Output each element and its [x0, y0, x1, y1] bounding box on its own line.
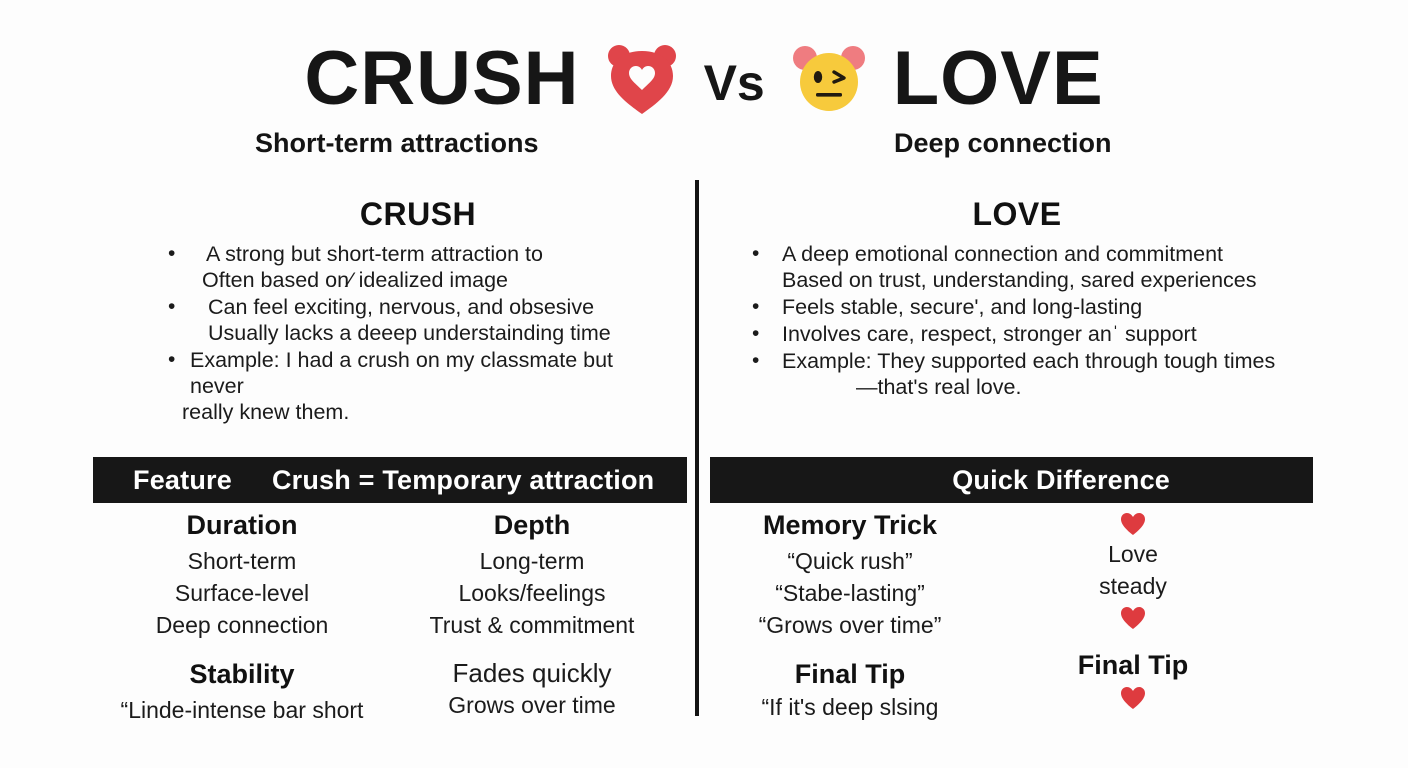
bullet-main: Can feel exciting, nervous, and obsesive — [208, 294, 668, 320]
header-title-row: CRUSH Vs L — [0, 36, 1408, 122]
column-stability-head: Stability — [106, 657, 378, 691]
column-love-steady: Love steady Final Tip — [1014, 508, 1252, 712]
banner-feature-label: Feature — [133, 465, 232, 496]
bullet-dot-icon: • — [168, 294, 175, 320]
panel-crush: CRUSH • A strong but short-term attracti… — [168, 196, 668, 426]
column-memory-trick-line-2: “Stabe-lasting” — [742, 577, 958, 609]
comparison-grid: Duration Short-term Surface-level Deep c… — [0, 508, 1408, 758]
header-right-subtitle: Deep connection — [894, 128, 1112, 159]
column-duration-head: Duration — [106, 508, 378, 542]
banner-quick-difference-title: Quick Difference — [952, 465, 1170, 496]
bullet-main: Involves care, respect, stronger anˈ sup… — [782, 321, 1282, 347]
list-item: • Involves care, respect, stronger anˈ s… — [752, 321, 1282, 347]
heart-icon-bottom — [1014, 682, 1252, 712]
bullet-sub: —that's real love. — [856, 374, 1282, 400]
heart-icon-top — [1014, 508, 1252, 538]
list-item: • Feels stable, secureʹ, and long-lastin… — [752, 294, 1282, 320]
list-item: • A deep emotional connection and commit… — [752, 241, 1282, 293]
bullet-dot-icon: • — [168, 241, 175, 267]
column-memory-trick-head: Memory Trick — [742, 508, 958, 542]
spacer — [388, 641, 676, 657]
banner-feature-statement: Crush = Temporary attraction — [272, 465, 654, 496]
bullet-main: Example: They supported each through tou… — [782, 348, 1282, 374]
column-fades-line-1: Grows over time — [388, 689, 676, 721]
column-final-tip-line-1: “If it's deep slsing — [742, 691, 958, 723]
header: CRUSH Vs L — [0, 36, 1408, 166]
column-memory-trick: Memory Trick “Quick rush” “Stabe-lasting… — [742, 508, 958, 723]
column-depth: Depth Long-term Looks/feelings Trust & c… — [388, 508, 676, 721]
bullet-sub: Often based on⁄ idealized image — [202, 267, 668, 293]
column-depth-line-1: Long-term — [388, 545, 676, 577]
banner-quick-difference: Quick Difference — [710, 457, 1313, 503]
bullet-dot-icon: • — [752, 348, 759, 374]
heart-shield-icon — [606, 42, 678, 116]
bullet-main: Feels stable, secureʹ, and long-lasting — [782, 294, 1282, 320]
header-subtitle-row: Short-term attractions Deep connection — [0, 122, 1408, 166]
column-final-tip-right-head: Final Tip — [1014, 648, 1252, 682]
column-duration-line-3: Deep connection — [106, 609, 378, 641]
bullet-main: Example: I had a crush on my classmate b… — [190, 347, 668, 399]
spacer — [742, 641, 958, 657]
column-memory-trick-line-3: “Grows over time” — [742, 609, 958, 641]
column-depth-head: Depth — [388, 508, 676, 542]
list-item: • A strong but short-term attraction to … — [168, 241, 668, 293]
bullet-main: A strong but short-term attraction to — [206, 241, 668, 267]
panel-crush-bullets: • A strong but short-term attraction to … — [168, 241, 668, 425]
bullet-sub: Based on trust, understanding, sared exp… — [782, 267, 1282, 293]
list-item: • Example: I had a crush on my classmate… — [168, 347, 668, 425]
column-duration-line-1: Short-term — [106, 545, 378, 577]
column-love-line-2: steady — [1014, 570, 1252, 602]
header-right-word: LOVE — [893, 41, 1104, 117]
list-item: • Can feel exciting, nervous, and obsesi… — [168, 294, 668, 346]
header-left-subtitle: Short-term attractions — [255, 128, 539, 159]
panel-crush-title: CRUSH — [168, 196, 668, 233]
spacer — [106, 641, 378, 657]
column-memory-trick-line-1: “Quick rush” — [742, 545, 958, 577]
heart-icon-mid — [1014, 602, 1252, 632]
bullet-dot-icon: • — [168, 347, 175, 373]
column-duration: Duration Short-term Surface-level Deep c… — [106, 508, 378, 726]
column-final-tip-head: Final Tip — [742, 657, 958, 691]
bullet-sub: really knew them. — [182, 399, 668, 425]
list-item: • Example: They supported each through t… — [752, 348, 1282, 400]
column-duration-line-2: Surface-level — [106, 577, 378, 609]
column-stability-line-1: “Linde-intense bar short — [106, 694, 378, 726]
column-depth-line-2: Looks/feelings — [388, 577, 676, 609]
bullet-dot-icon: • — [752, 241, 759, 267]
infographic-canvas: CRUSH Vs L — [0, 0, 1408, 768]
winking-face-icon — [791, 41, 867, 117]
bullet-dot-icon: • — [752, 321, 759, 347]
column-fades-head: Fades quickly — [388, 657, 676, 689]
panel-love-bullets: • A deep emotional connection and commit… — [752, 241, 1282, 400]
header-left-word: CRUSH — [304, 41, 579, 117]
banner-feature: Feature Crush = Temporary attraction — [93, 457, 687, 503]
bullet-sub: Usually lacks a deeep understainding tim… — [208, 320, 668, 346]
bullet-main: A deep emotional connection and commitme… — [782, 241, 1282, 267]
panel-love-title: LOVE — [752, 196, 1282, 233]
column-depth-line-3: Trust & commitment — [388, 609, 676, 641]
spacer — [1014, 632, 1252, 648]
column-love-line-1: Love — [1014, 538, 1252, 570]
versus-label: Vs — [704, 58, 765, 108]
panel-love: LOVE • A deep emotional connection and c… — [752, 196, 1282, 401]
bullet-dot-icon: • — [752, 294, 759, 320]
